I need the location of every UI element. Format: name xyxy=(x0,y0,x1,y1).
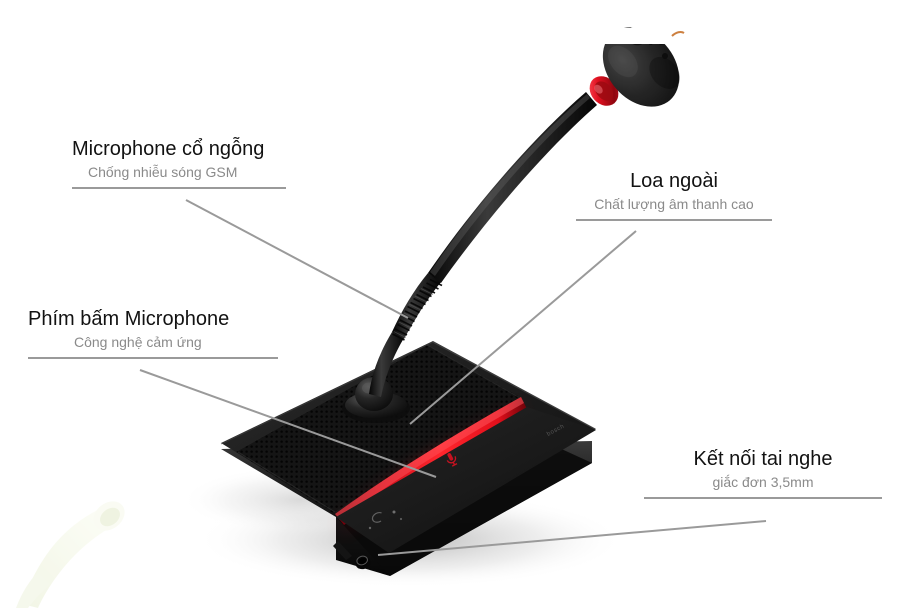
touch-button-dot-2 xyxy=(369,527,371,529)
callout-jack-rule xyxy=(644,497,882,499)
callout-jack-subtitle: giắc đơn 3,5mm xyxy=(644,472,882,492)
callout-key-rule xyxy=(28,357,278,359)
callout-gooseneck-title: Microphone cổ ngỗng xyxy=(72,136,286,162)
callout-speaker: Loa ngoài Chất lượng âm thanh cao xyxy=(576,168,772,221)
diagram-canvas: bosch xyxy=(0,0,912,608)
callout-key-title: Phím bấm Microphone xyxy=(28,306,278,332)
callout-speaker-title: Loa ngoài xyxy=(576,168,772,194)
callout-gooseneck: Microphone cổ ngỗng Chống nhiễu sóng GSM xyxy=(72,136,286,189)
callout-gooseneck-rule xyxy=(72,187,286,189)
callout-jack: Kết nối tai nghe giắc đơn 3,5mm xyxy=(644,446,882,499)
callout-speaker-subtitle: Chất lượng âm thanh cao xyxy=(576,194,772,214)
touch-button-dot-1 xyxy=(393,511,396,514)
callout-gooseneck-subtitle: Chống nhiễu sóng GSM xyxy=(72,162,286,182)
callout-speaker-rule xyxy=(576,219,772,221)
callout-jack-title: Kết nối tai nghe xyxy=(644,446,882,472)
neck-upper-tube xyxy=(428,92,597,283)
gooseneck-flexible-coil xyxy=(392,273,442,340)
touch-button-dot-3 xyxy=(400,518,402,520)
faint-tube-watermark xyxy=(16,484,146,608)
callout-key-subtitle: Công nghệ cảm ứng xyxy=(28,332,278,352)
callout-key: Phím bấm Microphone Công nghệ cảm ứng xyxy=(28,306,278,359)
